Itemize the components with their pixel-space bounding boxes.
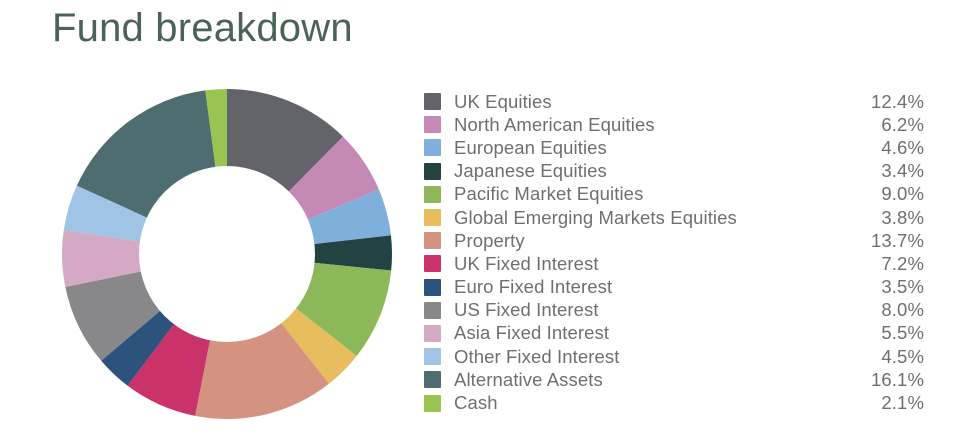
legend-swatch-icon [424, 163, 441, 180]
legend-item-label: UK Equities [454, 91, 858, 113]
legend-item-label: Property [454, 230, 858, 252]
legend-item[interactable]: Japanese Equities3.4% [424, 160, 924, 183]
legend-item-label: Japanese Equities [454, 160, 858, 182]
legend-item[interactable]: UK Equities12.4% [424, 90, 924, 113]
legend-item[interactable]: US Fixed Interest8.0% [424, 299, 924, 322]
legend-item-value: 3.8% [858, 207, 924, 229]
fund-breakdown-chart-page: Fund breakdown UK Equities12.4%North Ame… [0, 0, 970, 447]
legend-item-label: UK Fixed Interest [454, 253, 858, 275]
legend-item[interactable]: Pacific Market Equities9.0% [424, 183, 924, 206]
legend-item-label: Asia Fixed Interest [454, 322, 858, 344]
legend-item-value: 4.6% [858, 137, 924, 159]
legend-item[interactable]: UK Fixed Interest7.2% [424, 252, 924, 275]
legend-item-value: 7.2% [858, 253, 924, 275]
legend-item[interactable]: Asia Fixed Interest5.5% [424, 322, 924, 345]
legend-item-label: Other Fixed Interest [454, 346, 858, 368]
legend-item-value: 2.1% [858, 392, 924, 414]
legend-item-value: 6.2% [858, 114, 924, 136]
legend-item-value: 8.0% [858, 299, 924, 321]
legend-item-value: 5.5% [858, 322, 924, 344]
legend-item-value: 16.1% [858, 369, 924, 391]
legend-item-label: European Equities [454, 137, 858, 159]
legend-item[interactable]: Cash2.1% [424, 391, 924, 414]
legend-swatch-icon [424, 186, 441, 203]
legend-item-value: 4.5% [858, 346, 924, 368]
legend-item[interactable]: Global Emerging Markets Equities3.8% [424, 206, 924, 229]
legend-item-value: 3.5% [858, 276, 924, 298]
legend-swatch-icon [424, 279, 441, 296]
legend-swatch-icon [424, 93, 441, 110]
legend-item[interactable]: North American Equities6.2% [424, 113, 924, 136]
legend-item[interactable]: European Equities4.6% [424, 136, 924, 159]
legend-item-label: Global Emerging Markets Equities [454, 207, 858, 229]
legend-item[interactable]: Other Fixed Interest4.5% [424, 345, 924, 368]
legend-item[interactable]: Alternative Assets16.1% [424, 368, 924, 391]
legend-item-value: 9.0% [858, 183, 924, 205]
legend-swatch-icon [424, 348, 441, 365]
legend-swatch-icon [424, 395, 441, 412]
legend-item-value: 3.4% [858, 160, 924, 182]
legend-item-value: 13.7% [858, 230, 924, 252]
legend-item-label: Alternative Assets [454, 369, 858, 391]
legend-item[interactable]: Property13.7% [424, 229, 924, 252]
legend-swatch-icon [424, 302, 441, 319]
legend-swatch-icon [424, 255, 441, 272]
donut-chart [62, 88, 392, 420]
legend-item-value: 12.4% [858, 91, 924, 113]
legend-swatch-icon [424, 232, 441, 249]
legend-item-label: North American Equities [454, 114, 858, 136]
legend-item[interactable]: Euro Fixed Interest3.5% [424, 276, 924, 299]
donut-hole [139, 166, 315, 342]
legend-item-label: Cash [454, 392, 858, 414]
page-title: Fund breakdown [52, 6, 353, 51]
legend-item-label: Euro Fixed Interest [454, 276, 858, 298]
donut-chart-svg [62, 88, 392, 420]
legend-swatch-icon [424, 139, 441, 156]
legend-swatch-icon [424, 325, 441, 342]
chart-legend: UK Equities12.4%North American Equities6… [424, 90, 924, 415]
legend-swatch-icon [424, 371, 441, 388]
legend-item-label: Pacific Market Equities [454, 183, 858, 205]
legend-swatch-icon [424, 116, 441, 133]
legend-item-label: US Fixed Interest [454, 299, 858, 321]
legend-swatch-icon [424, 209, 441, 226]
